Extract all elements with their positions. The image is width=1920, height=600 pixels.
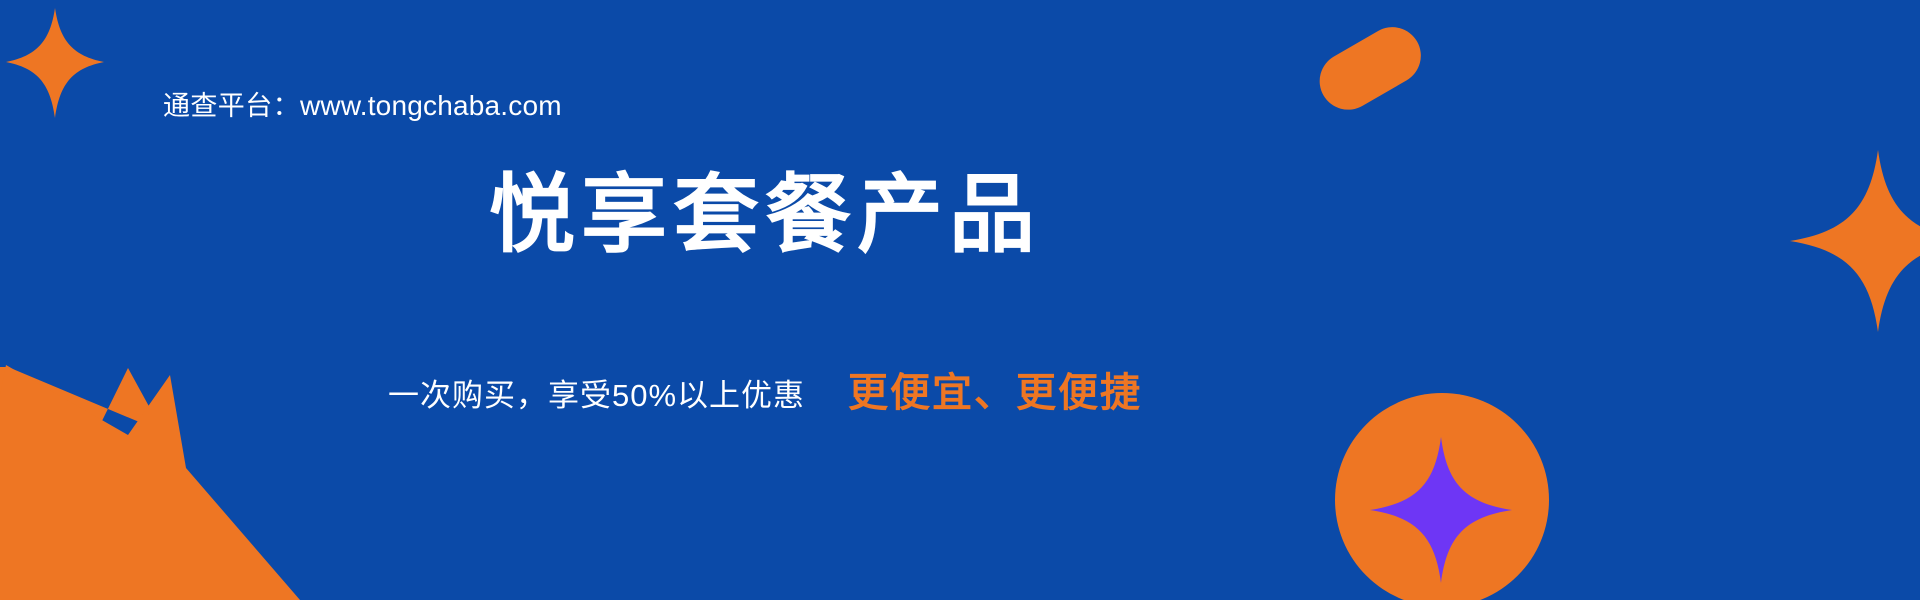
- site-line-label: 通查平台：: [163, 91, 300, 121]
- banner-content: 通查平台：www.tongchaba.com 悦享套餐产品 一次购买，享受50%…: [0, 0, 1920, 600]
- page-title: 悦享套餐产品: [0, 160, 1530, 270]
- subtitle-line: 一次购买，享受50%以上优惠 更便宜、更便捷: [0, 362, 1530, 433]
- site-line-url[interactable]: www.tongchaba.com: [300, 90, 562, 121]
- subtitle-accent: 更便宜、更便捷: [848, 371, 1142, 415]
- subtitle-primary: 一次购买，享受50%以上优惠: [388, 378, 805, 413]
- site-line: 通查平台：www.tongchaba.com: [163, 86, 562, 126]
- promo-banner: 通查平台：www.tongchaba.com 悦享套餐产品 一次购买，享受50%…: [0, 0, 1920, 600]
